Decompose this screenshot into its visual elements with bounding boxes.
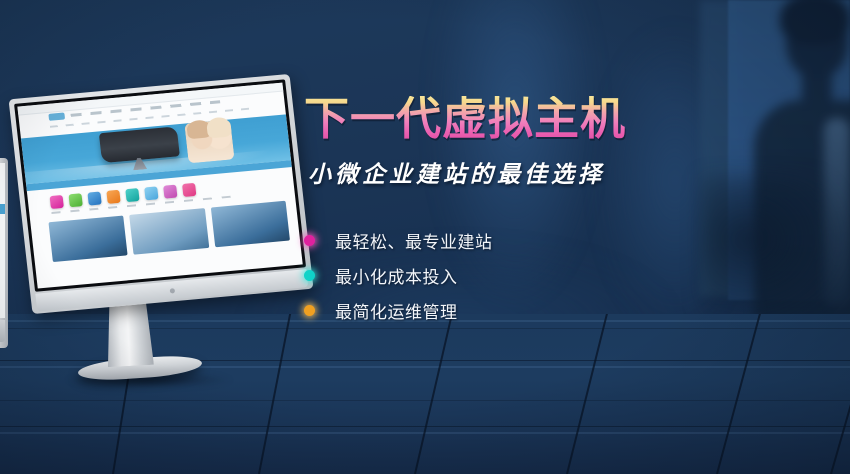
list-item: 最简化运维管理 xyxy=(300,293,716,328)
website-hero-people-photo xyxy=(184,119,234,163)
site-icon-lightblue xyxy=(144,186,158,200)
list-item: 最小化成本投入 xyxy=(300,258,716,293)
hero-banner: 下一代虚拟主机 下一代虚拟主机 小微企业建站的最佳选择 最轻松、最专业建站 最小… xyxy=(0,0,850,474)
site-icon-green xyxy=(68,193,82,207)
feature-label: 最小化成本投入 xyxy=(335,263,458,288)
monitor-brand-logo xyxy=(169,288,175,293)
desktop-monitor xyxy=(12,86,302,376)
floor-grid-line xyxy=(716,314,762,474)
headline-wrapper: 下一代虚拟主机 下一代虚拟主机 xyxy=(296,96,716,141)
person-silhouette-secondary xyxy=(700,175,850,335)
secondary-device-screen xyxy=(0,163,5,318)
list-item: 最轻松、最专业建站 xyxy=(300,223,716,258)
website-logo xyxy=(48,112,65,120)
site-icon-magenta xyxy=(50,195,64,209)
website-card xyxy=(210,201,289,248)
secondary-device xyxy=(0,158,8,348)
feature-label: 最简化运维管理 xyxy=(335,298,458,323)
monitor-screen xyxy=(14,79,306,291)
page-title: 下一代虚拟主机 xyxy=(304,96,716,141)
secondary-device-chin xyxy=(0,320,5,342)
feature-list: 最轻松、最专业建站 最小化成本投入 最简化运维管理 xyxy=(300,223,716,328)
site-icon-purple xyxy=(163,185,177,199)
website-mockup xyxy=(17,83,302,289)
site-icon-blue xyxy=(87,191,101,205)
hero-text-block: 下一代虚拟主机 下一代虚拟主机 小微企业建站的最佳选择 最轻松、最专业建站 最小… xyxy=(296,96,716,328)
site-icon-pink xyxy=(182,183,196,197)
bullet-dot-icon xyxy=(300,266,319,285)
bullet-dot-icon xyxy=(300,231,319,250)
site-icon-teal xyxy=(125,188,139,202)
website-topbar xyxy=(17,83,283,116)
website-card xyxy=(48,215,127,262)
monitor-bezel xyxy=(9,74,314,314)
bullet-dot-icon xyxy=(300,301,319,320)
site-icon-orange xyxy=(106,190,120,204)
floor-grid-line xyxy=(566,314,609,474)
page-subtitle: 小微企业建站的最佳选择 xyxy=(308,155,716,189)
website-card xyxy=(129,208,208,255)
feature-label: 最轻松、最专业建站 xyxy=(335,228,493,253)
floor-grid-line xyxy=(830,314,850,474)
floor-grid-line xyxy=(0,400,850,401)
secondary-device-accent-band xyxy=(0,204,5,214)
person-hair xyxy=(780,0,850,44)
floor-grid-line xyxy=(414,314,454,474)
